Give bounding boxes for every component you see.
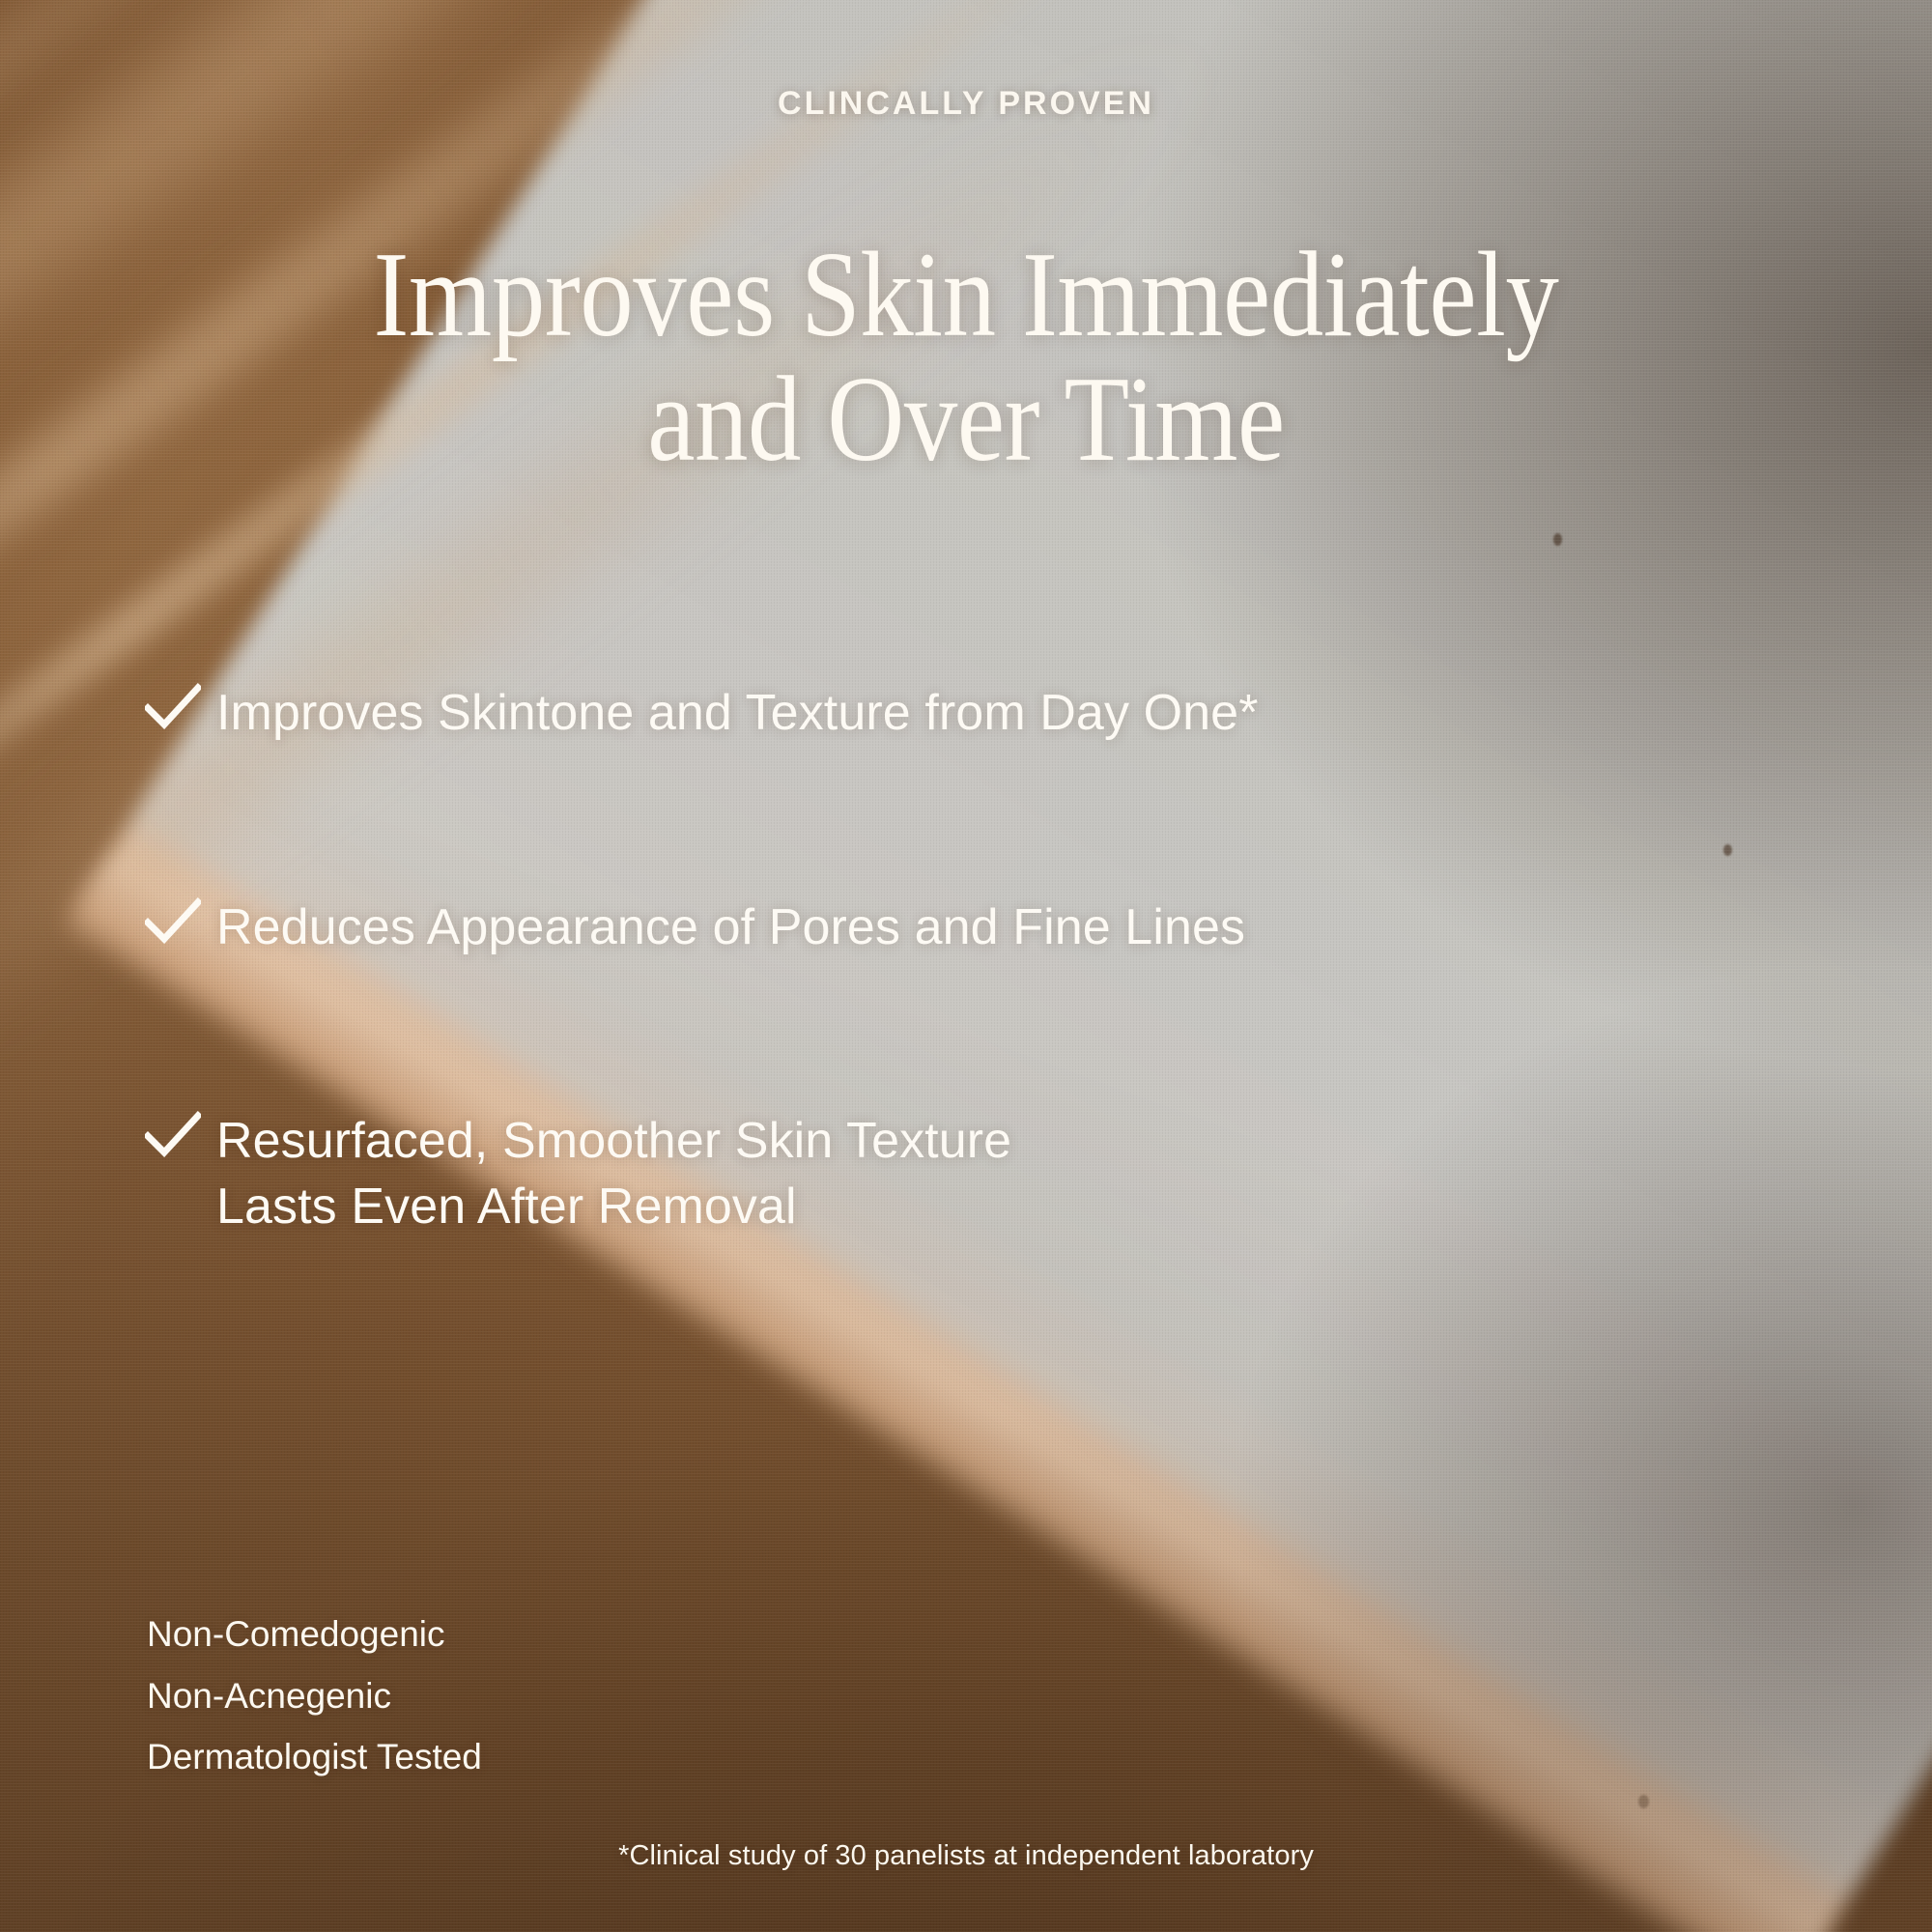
benefit-list: Improves Skintone and Texture from Day O… <box>145 681 1855 1239</box>
content-layer: CLINCALLY PROVEN Improves Skin Immediate… <box>0 0 1932 1932</box>
checkmark-icon <box>145 1111 216 1157</box>
promo-canvas: CLINCALLY PROVEN Improves Skin Immediate… <box>0 0 1932 1932</box>
claim-item: Non-Acnegenic <box>147 1665 482 1727</box>
headline-line-2: and Over Time <box>116 358 1816 483</box>
page-title: Improves Skin Immediately and Over Time <box>116 234 1816 482</box>
benefit-text-line-2: Lasts Even After Removal <box>216 1175 1011 1240</box>
eyebrow-label: CLINCALLY PROVEN <box>0 85 1932 123</box>
footnote-disclaimer: *Clinical study of 30 panelists at indep… <box>0 1840 1932 1872</box>
benefit-item: Reduces Appearance of Pores and Fine Lin… <box>145 895 1855 961</box>
benefit-text-line-1: Resurfaced, Smoother Skin Texture <box>216 1113 1011 1169</box>
benefit-text-line-1: Reduces Appearance of Pores and Fine Lin… <box>216 899 1245 955</box>
headline-line-1: Improves Skin Immediately <box>116 234 1816 358</box>
claim-item: Dermatologist Tested <box>147 1726 482 1788</box>
claims-list: Non-Comedogenic Non-Acnegenic Dermatolog… <box>147 1604 482 1788</box>
benefit-text: Resurfaced, Smoother Skin Texture Lasts … <box>216 1109 1011 1239</box>
benefit-item: Improves Skintone and Texture from Day O… <box>145 681 1855 747</box>
checkmark-icon <box>145 683 216 729</box>
benefit-text-line-1: Improves Skintone and Texture from Day O… <box>216 685 1259 741</box>
checkmark-icon <box>145 897 216 944</box>
benefit-item: Resurfaced, Smoother Skin Texture Lasts … <box>145 1109 1855 1239</box>
claim-item: Non-Comedogenic <box>147 1604 482 1665</box>
benefit-text: Improves Skintone and Texture from Day O… <box>216 681 1259 747</box>
benefit-text: Reduces Appearance of Pores and Fine Lin… <box>216 895 1245 961</box>
